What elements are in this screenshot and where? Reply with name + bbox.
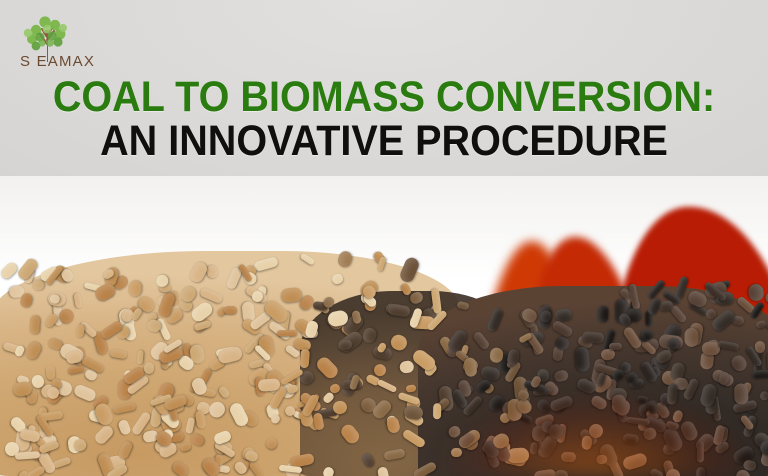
pellet (684, 327, 698, 347)
pellet (224, 306, 237, 314)
pellet (597, 305, 609, 323)
tree-icon: S EAMAX (14, 10, 118, 72)
pellet (640, 329, 652, 340)
pellet (433, 402, 441, 419)
banner: S EAMAX COAL TO BIOMASS CONVERSION: AN I… (0, 0, 768, 476)
pellet (582, 331, 605, 343)
pellet (748, 283, 765, 302)
headline-line-2: AN INNOVATIVE PROCEDURE (31, 120, 738, 162)
biomass-combustion-photo (0, 176, 768, 476)
pellet (277, 329, 297, 336)
logo-brand-text: S EAMAX (20, 53, 95, 70)
pellet (0, 260, 20, 281)
pellet (144, 362, 154, 374)
pellet (257, 378, 280, 391)
pellet (760, 391, 768, 401)
steamax-logo[interactable]: S EAMAX (14, 10, 118, 72)
pellet (14, 451, 39, 460)
pellet (751, 369, 768, 378)
pellet (29, 315, 40, 335)
pellet (554, 307, 572, 321)
pellet-piles (0, 246, 768, 476)
headline-line-1: COAL TO BIOMASS CONVERSION: (31, 76, 738, 118)
pellet (281, 287, 303, 303)
pellet (764, 288, 768, 305)
pellet (609, 343, 622, 351)
pellet (136, 349, 143, 364)
page-title: COAL TO BIOMASS CONVERSION: AN INNOVATIV… (0, 76, 768, 162)
pellet (405, 384, 416, 392)
pellet (299, 348, 309, 368)
ember-glow (448, 366, 748, 476)
pellet (337, 338, 352, 350)
